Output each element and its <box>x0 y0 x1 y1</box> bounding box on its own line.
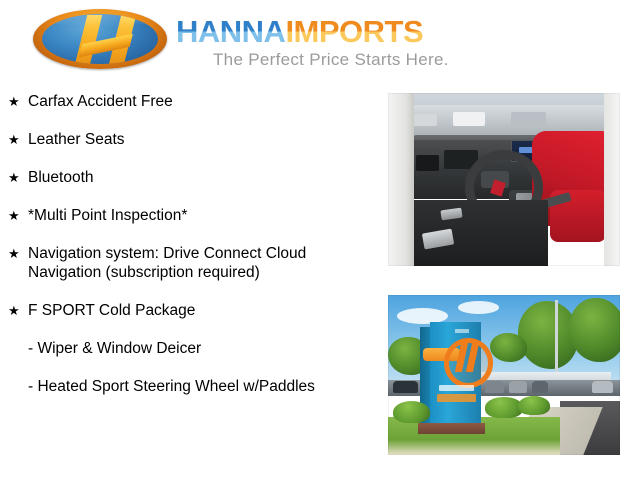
logo-h-left-stroke <box>73 15 102 64</box>
brand-wordmark: HANNAIMPORTS <box>176 14 526 50</box>
list-item: ★ Bluetooth <box>0 168 375 187</box>
list-item-label: Carfax Accident Free <box>28 93 173 110</box>
logo-inner-oval <box>42 14 158 64</box>
vehicle-interior-photo[interactable] <box>388 93 620 266</box>
hanna-oval-h-logo-icon <box>33 9 167 69</box>
star-icon: ★ <box>8 206 20 225</box>
dealership-sign-photo[interactable] <box>388 295 620 455</box>
photo-border <box>388 295 620 455</box>
list-item-label: Leather Seats <box>28 131 125 148</box>
list-item-label: F SPORT Cold Package <box>28 302 195 319</box>
list-item: - Wiper & Window Deicer <box>0 339 375 358</box>
brand-tagline: The Perfect Price Starts Here. <box>213 50 449 70</box>
star-icon: ★ <box>8 130 20 149</box>
star-icon: ★ <box>8 244 20 263</box>
list-item: ★ Carfax Accident Free <box>0 92 375 111</box>
list-item: - Heated Sport Steering Wheel w/Paddles <box>0 377 375 396</box>
list-item: ★ Navigation system: Drive Connect Cloud… <box>0 244 375 282</box>
list-item: ★ Leather Seats <box>0 130 375 149</box>
photo-border <box>388 93 620 266</box>
wordmark-hanna: HANNA <box>176 14 285 49</box>
wordmark-imports: IMPORTS <box>285 14 423 49</box>
list-item-label: Navigation system: Drive Connect Cloud N… <box>28 245 306 281</box>
dealer-header: HANNAIMPORTS The Perfect Price Starts He… <box>0 0 640 86</box>
star-icon: ★ <box>8 301 20 320</box>
vehicle-features-list: ★ Carfax Accident Free ★ Leather Seats ★… <box>0 88 375 415</box>
list-item-label: Bluetooth <box>28 169 94 186</box>
star-icon: ★ <box>8 168 20 187</box>
list-item: ★ *Multi Point Inspection* <box>0 206 375 225</box>
star-icon: ★ <box>8 92 20 111</box>
list-item-label: *Multi Point Inspection* <box>28 207 187 224</box>
list-item-label: - Heated Sport Steering Wheel w/Paddles <box>28 378 315 395</box>
list-item-label: - Wiper & Window Deicer <box>28 340 201 357</box>
list-item: ★ F SPORT Cold Package <box>0 301 375 320</box>
